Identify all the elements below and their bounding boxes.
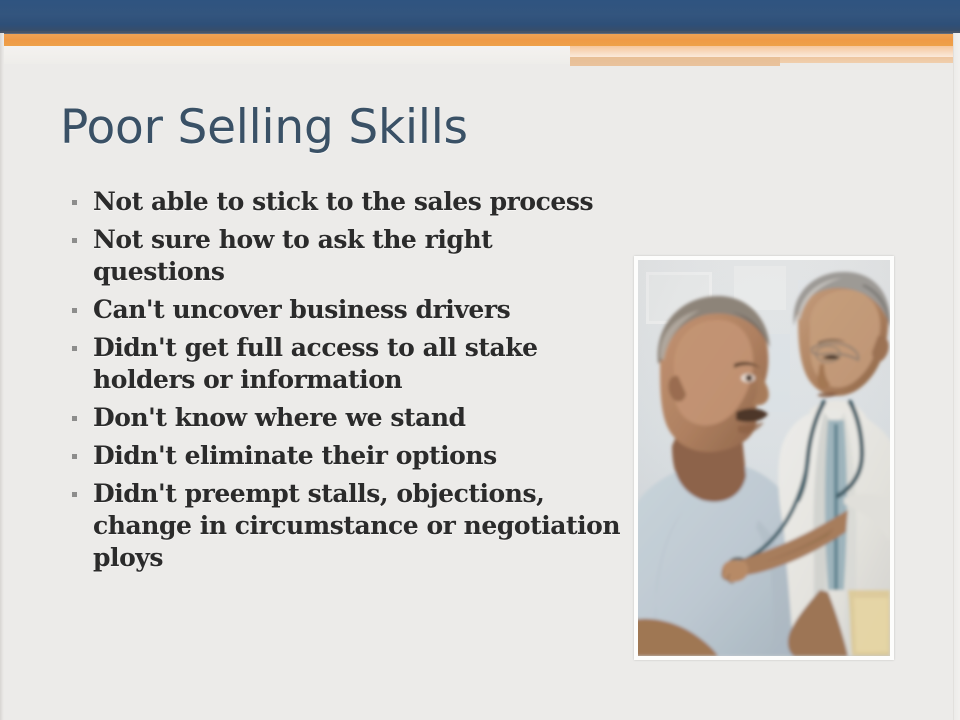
list-item: Not able to stick to the sales process — [68, 186, 628, 218]
list-item: Can't uncover business drivers — [68, 294, 628, 326]
header-white-strip — [0, 46, 570, 64]
list-item-label: Didn't get full access to all stake hold… — [93, 332, 628, 396]
list-item-label: Didn't eliminate their options — [93, 440, 497, 472]
list-item: Don't know where we stand — [68, 402, 628, 434]
bullet-square-icon — [72, 346, 77, 351]
list-item-label: Don't know where we stand — [93, 402, 466, 434]
page-title: Poor Selling Skills — [60, 100, 468, 155]
header-white-strip-right — [780, 63, 960, 70]
header-orange-band — [0, 34, 960, 46]
bullet-square-icon — [72, 492, 77, 497]
header-orange-band-secondary — [570, 46, 960, 57]
list-item-label: Not sure how to ask the right questions — [93, 224, 628, 288]
slide-edge-right-line — [953, 33, 954, 720]
slide-edge-right — [954, 33, 960, 720]
bullet-square-icon — [72, 200, 77, 205]
list-item-label: Didn't preempt stalls, objections, chang… — [93, 478, 628, 574]
list-item-label: Not able to stick to the sales process — [93, 186, 593, 218]
list-item-label: Can't uncover business drivers — [93, 294, 510, 326]
slide-edge-left — [0, 33, 4, 720]
bullet-square-icon — [72, 308, 77, 313]
list-item: Didn't preempt stalls, objections, chang… — [68, 478, 628, 574]
bullet-square-icon — [72, 238, 77, 243]
header-blue-band — [0, 0, 960, 33]
bullet-square-icon — [72, 416, 77, 421]
doctor-examining-patient-photo — [638, 260, 890, 656]
list-item: Didn't get full access to all stake hold… — [68, 332, 628, 396]
list-item: Didn't eliminate their options — [68, 440, 628, 472]
bullet-list: Not able to stick to the sales process N… — [68, 186, 628, 580]
bullet-square-icon — [72, 454, 77, 459]
list-item: Not sure how to ask the right questions — [68, 224, 628, 288]
header-orange-band-tertiary — [570, 57, 780, 66]
presentation-slide: Poor Selling Skills Not able to stick to… — [0, 0, 960, 720]
slide-image-frame — [634, 256, 894, 660]
